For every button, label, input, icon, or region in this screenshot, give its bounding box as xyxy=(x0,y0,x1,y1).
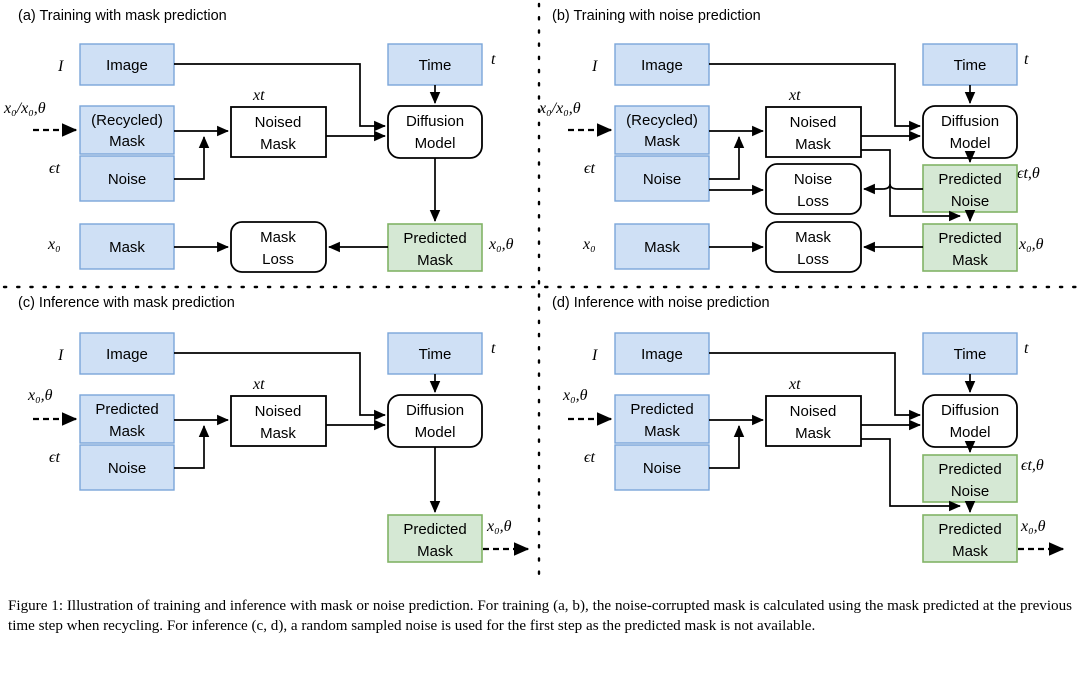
panel-a-box-noise-label: Noise xyxy=(108,171,146,188)
panel-a-box-mask-loss-label-1: Mask xyxy=(260,229,296,246)
panel-c-box-predicted-mask-in-label-2: Mask xyxy=(109,423,145,440)
panel-b-box-predicted-noise-label-2: Noise xyxy=(951,193,989,210)
panel-b-edge-noise-to-noisedmask xyxy=(709,137,739,179)
panel-a-label-noise-var: ϵt xyxy=(49,160,60,177)
panel-d-label-predicted-mask-out-var: x₀,θ xyxy=(1020,518,1046,535)
panel-b: (b) Training with noise prediction I x₀/… xyxy=(538,8,1044,272)
panel-d-box-noised-mask-label-1: Noised xyxy=(790,403,837,420)
panel-b-label-predicted-noise-var: ϵt,θ xyxy=(1017,165,1040,182)
panel-c-title: (c) Inference with mask prediction xyxy=(18,295,235,311)
panel-d-box-diffusion-label-1: Diffusion xyxy=(941,402,999,419)
figure-diagram: (a) Training with mask prediction I x₀/x… xyxy=(0,0,1080,588)
panel-c-box-diffusion-label-1: Diffusion xyxy=(406,402,464,419)
panel-b-edge-predictednoise-to-noiseloss xyxy=(864,184,923,189)
panel-a-edge-noise-to-noisedmask xyxy=(174,137,204,179)
panel-b-label-mask-var: x₀ xyxy=(582,236,596,253)
panel-a-box-diffusion-label-1: Diffusion xyxy=(406,113,464,130)
panel-d-box-predicted-noise-label-1: Predicted xyxy=(938,461,1001,478)
panel-d-box-noise-label: Noise xyxy=(643,460,681,477)
panel-c-label-noise-var: ϵt xyxy=(49,449,60,466)
panel-c-box-noised-mask-label-2: Mask xyxy=(260,425,296,442)
panel-c-box-image-label: Image xyxy=(106,346,148,363)
panel-b-label-image-var: I xyxy=(591,58,598,75)
panel-a-box-time-label: Time xyxy=(419,57,452,74)
figure-caption: Figure 1: Illustration of training and i… xyxy=(8,596,1072,636)
panel-b-box-diffusion-label-1: Diffusion xyxy=(941,113,999,130)
panel-a-box-recycled-mask-label-1: (Recycled) xyxy=(91,112,163,129)
panel-a-label-image-var: I xyxy=(57,58,64,75)
panel-a-box-diffusion-label-2: Model xyxy=(415,135,456,152)
panel-c-box-diffusion-label-2: Model xyxy=(415,424,456,441)
panel-c-edge-noise-to-noisedmask xyxy=(174,426,204,468)
panel-b-box-diffusion-label-2: Model xyxy=(950,135,991,152)
panel-c-label-predicted-mask-out-var: x₀,θ xyxy=(486,518,512,535)
panel-b-box-recycled-mask-label-1: (Recycled) xyxy=(626,112,698,129)
panel-b-title: (b) Training with noise prediction xyxy=(552,8,761,24)
panel-a-box-mask-loss-label-2: Loss xyxy=(262,251,294,268)
panel-d-title: (d) Inference with noise prediction xyxy=(552,295,770,311)
panel-b-label-recycled-mask-var: x₀/x₀,θ xyxy=(538,100,581,117)
panel-d-box-predicted-noise-label-2: Noise xyxy=(951,483,989,500)
panel-d-box-predicted-mask-out-label-2: Mask xyxy=(952,543,988,560)
panel-c-box-noise-label: Noise xyxy=(108,460,146,477)
panel-b-label-noise-var: ϵt xyxy=(584,160,595,177)
panel-b-box-predicted-mask-label-1: Predicted xyxy=(938,230,1001,247)
panel-a-box-predicted-mask-label-1: Predicted xyxy=(403,230,466,247)
panel-d-edge-noise-to-noisedmask xyxy=(709,426,739,468)
panel-d-box-predicted-mask-in-label-2: Mask xyxy=(644,423,680,440)
panel-c-label-predicted-mask-in-var: x₀,θ xyxy=(27,387,53,404)
panel-a-box-noised-mask-label-1: Noised xyxy=(255,114,302,131)
panel-a-label-mask-var: x₀ xyxy=(47,236,61,253)
panel-a-box-recycled-mask-label-2: Mask xyxy=(109,133,145,150)
panel-d-label-time-var: t xyxy=(1024,340,1029,357)
panel-b-box-image-label: Image xyxy=(641,57,683,74)
panel-b-box-mask-loss-label-1: Mask xyxy=(795,229,831,246)
panel-d-label-image-var: I xyxy=(591,347,598,364)
panel-a-label-xt-var: xt xyxy=(252,87,265,104)
panel-b-label-xt-var: xt xyxy=(788,87,801,104)
figure-root: (a) Training with mask prediction I x₀/x… xyxy=(0,0,1080,679)
panel-b-box-noised-mask-label-2: Mask xyxy=(795,136,831,153)
panel-a-label-recycled-mask-var: x₀/x₀,θ xyxy=(3,100,46,117)
panel-d-label-predicted-noise-var: ϵt,θ xyxy=(1021,457,1044,474)
panel-a-box-mask-label: Mask xyxy=(109,239,145,256)
panel-b-box-noise-loss-label-2: Loss xyxy=(797,193,829,210)
panel-a-title: (a) Training with mask prediction xyxy=(18,8,227,24)
panel-c: (c) Inference with mask prediction I x₀,… xyxy=(18,295,528,562)
panel-c-box-noised-mask-label-1: Noised xyxy=(255,403,302,420)
panel-d-box-diffusion-label-2: Model xyxy=(950,424,991,441)
panel-b-box-noise-loss-label-1: Noise xyxy=(794,171,832,188)
panel-c-label-time-var: t xyxy=(491,340,496,357)
panel-b-box-predicted-noise-label-1: Predicted xyxy=(938,171,1001,188)
panel-c-box-predicted-mask-out-label-1: Predicted xyxy=(403,521,466,538)
panel-d-box-noised-mask-label-2: Mask xyxy=(795,425,831,442)
panel-c-box-predicted-mask-in-label-1: Predicted xyxy=(95,401,158,418)
panel-c-label-image-var: I xyxy=(57,347,64,364)
panel-b-box-predicted-mask-label-2: Mask xyxy=(952,252,988,269)
panel-d-box-predicted-mask-in-label-1: Predicted xyxy=(630,401,693,418)
panel-d-box-image-label: Image xyxy=(641,346,683,363)
panel-d-label-predicted-mask-in-var: x₀,θ xyxy=(562,387,588,404)
panel-c-box-predicted-mask-out-label-2: Mask xyxy=(417,543,453,560)
panel-d-box-predicted-mask-out-label-1: Predicted xyxy=(938,521,1001,538)
panel-b-label-predicted-mask-var: x₀,θ xyxy=(1018,236,1044,253)
panel-a-label-time-var: t xyxy=(491,51,496,68)
panel-b-box-mask-loss-label-2: Loss xyxy=(797,251,829,268)
panel-d: (d) Inference with noise prediction I x₀… xyxy=(552,295,1063,562)
panel-b-box-time-label: Time xyxy=(954,57,987,74)
panel-b-box-noised-mask-label-1: Noised xyxy=(790,114,837,131)
panel-b-box-mask-label: Mask xyxy=(644,239,680,256)
panel-a-box-predicted-mask-label-2: Mask xyxy=(417,252,453,269)
panel-c-label-xt-var: xt xyxy=(252,376,265,393)
panel-b-box-recycled-mask-label-2: Mask xyxy=(644,133,680,150)
panel-d-label-xt-var: xt xyxy=(788,376,801,393)
panel-b-box-noise-label: Noise xyxy=(643,171,681,188)
panel-a-box-noised-mask-label-2: Mask xyxy=(260,136,296,153)
panel-a-label-predicted-mask-var: x₀,θ xyxy=(488,236,514,253)
panel-b-label-time-var: t xyxy=(1024,51,1029,68)
panel-d-box-time-label: Time xyxy=(954,346,987,363)
panel-a: (a) Training with mask prediction I x₀/x… xyxy=(3,8,514,272)
panel-a-box-image-label: Image xyxy=(106,57,148,74)
panel-d-label-noise-var: ϵt xyxy=(584,449,595,466)
panel-c-box-time-label: Time xyxy=(419,346,452,363)
